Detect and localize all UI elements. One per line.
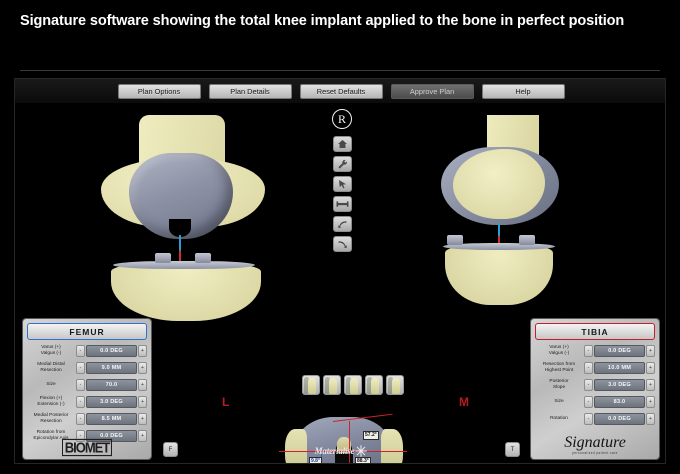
undo-icon[interactable] <box>333 216 352 232</box>
param-increment-button[interactable]: + <box>646 396 655 408</box>
param-label: Flexion (+)Extension (-) <box>27 396 75 407</box>
param-label: Size <box>27 382 75 388</box>
caption-text: Signature software showing the total kne… <box>20 12 650 31</box>
tibia-bone-anterior <box>111 265 261 321</box>
view-preset-1[interactable] <box>302 375 320 395</box>
param-value[interactable]: 8.5 MM <box>86 413 137 425</box>
param-increment-button[interactable]: + <box>646 362 655 374</box>
param-decrement-button[interactable]: - <box>584 396 593 408</box>
param-row: Varus (+)Valgus (-)-0.0 DEG+ <box>535 343 655 359</box>
param-decrement-button[interactable]: - <box>76 413 85 425</box>
param-label: Medial PosteriorResection <box>27 413 75 424</box>
param-decrement-button[interactable]: - <box>584 413 593 425</box>
param-increment-button[interactable]: + <box>138 413 147 425</box>
femur-panel-title: FEMUR <box>27 323 147 340</box>
tibia-parameter-list: Varus (+)Valgus (-)-0.0 DEG+Resection fr… <box>535 343 655 427</box>
param-value[interactable]: 70.0 <box>86 379 137 391</box>
redo-icon[interactable] <box>333 236 352 252</box>
param-row: Resection fromHighest Point-10.0 MM+ <box>535 360 655 376</box>
toolbar-button-plan-options[interactable]: Plan Options <box>118 84 201 99</box>
lateral-knee-view[interactable] <box>415 115 605 305</box>
bone-thumbnail-icon <box>392 378 400 394</box>
param-value[interactable]: 3.0 DEG <box>594 379 645 391</box>
param-increment-button[interactable]: + <box>646 413 655 425</box>
femur-parameter-list: Varus (+)Valgus (-)-0.0 DEG+Medial Dista… <box>27 343 147 444</box>
param-label: PosteriorSlope <box>535 379 583 390</box>
param-row: Size-83.0+ <box>535 394 655 410</box>
caption-divider <box>20 70 660 71</box>
materialise-logo: Materialise <box>15 445 666 457</box>
param-decrement-button[interactable]: - <box>76 379 85 391</box>
param-decrement-button[interactable]: - <box>76 362 85 374</box>
tibia-panel-title: TIBIA <box>535 323 655 340</box>
param-label: Rotation <box>535 416 583 422</box>
starburst-icon <box>355 445 367 457</box>
param-row: Medial PosteriorResection-8.5 MM+ <box>27 411 147 427</box>
toolbar-button-approve-plan[interactable]: Approve Plan <box>391 84 474 99</box>
param-value[interactable]: 83.0 <box>594 396 645 408</box>
toolbar-button-plan-details[interactable]: Plan Details <box>209 84 292 99</box>
view-preset-toolbar <box>302 375 404 395</box>
joint-gap-indicator-anterior <box>179 235 181 263</box>
tibial-tray-anterior <box>113 261 255 269</box>
tibial-peg-lateral-left <box>447 235 463 245</box>
femur-condyle-lateral <box>453 149 545 219</box>
tibia-bone-lateral <box>445 247 553 305</box>
param-row: Medial DistalResection-9.0 MM+ <box>27 360 147 376</box>
measure-icon[interactable] <box>333 196 352 212</box>
param-value[interactable]: 9.0 MM <box>86 362 137 374</box>
materialise-wordmark: Materialise <box>315 446 355 456</box>
param-value[interactable]: 0.0 DEG <box>594 413 645 425</box>
toolbar-button-help[interactable]: Help <box>482 84 565 99</box>
param-value[interactable]: 0.0 DEG <box>86 345 137 357</box>
tibial-peg-lateral-right <box>519 235 535 245</box>
bone-thumbnail-icon <box>308 378 316 394</box>
view-preset-3[interactable] <box>344 375 362 395</box>
lateral-side-marker: L <box>222 395 229 409</box>
caption-bar: Signature software showing the total kne… <box>0 0 680 64</box>
param-row: PosteriorSlope-3.0 DEG+ <box>535 377 655 393</box>
param-label: Resection fromHighest Point <box>535 362 583 373</box>
param-row: Size-70.0+ <box>27 377 147 393</box>
view-preset-5[interactable] <box>386 375 404 395</box>
param-label: Varus (+)Valgus (-) <box>27 345 75 356</box>
tool-rail: R <box>328 109 356 252</box>
param-increment-button[interactable]: + <box>138 345 147 357</box>
3d-viewport[interactable]: R <box>15 103 666 464</box>
param-decrement-button[interactable]: - <box>584 345 593 357</box>
view-preset-2[interactable] <box>323 375 341 395</box>
tibial-peg-right <box>195 253 211 263</box>
home-icon[interactable] <box>333 136 352 152</box>
anterior-knee-view[interactable] <box>77 115 297 305</box>
param-increment-button[interactable]: + <box>646 379 655 391</box>
registered-trademark-icon: R <box>332 109 352 129</box>
pointer-icon[interactable] <box>333 176 352 192</box>
signature-application-window: Plan OptionsPlan DetailsReset DefaultsAp… <box>14 78 666 464</box>
param-decrement-button[interactable]: - <box>76 345 85 357</box>
top-toolbar: Plan OptionsPlan DetailsReset DefaultsAp… <box>15 79 666 103</box>
view-preset-4[interactable] <box>365 375 383 395</box>
param-value[interactable]: 10.0 MM <box>594 362 645 374</box>
bone-thumbnail-icon <box>371 378 379 394</box>
param-label: Varus (+)Valgus (-) <box>535 345 583 356</box>
param-value[interactable]: 3.0 DEG <box>86 396 137 408</box>
param-row: Rotation-0.0 DEG+ <box>535 411 655 427</box>
param-increment-button[interactable]: + <box>138 379 147 391</box>
bottom-bar: F T Materialise <box>15 431 666 464</box>
param-increment-button[interactable]: + <box>138 396 147 408</box>
bone-thumbnail-icon <box>329 378 337 394</box>
bone-thumbnail-icon <box>350 378 358 394</box>
param-row: Varus (+)Valgus (-)-0.0 DEG+ <box>27 343 147 359</box>
param-value[interactable]: 0.0 DEG <box>594 345 645 357</box>
param-decrement-button[interactable]: - <box>76 396 85 408</box>
toolbar-button-reset-defaults[interactable]: Reset Defaults <box>300 84 383 99</box>
param-decrement-button[interactable]: - <box>584 379 593 391</box>
param-decrement-button[interactable]: - <box>584 362 593 374</box>
param-row: Flexion (+)Extension (-)-3.0 DEG+ <box>27 394 147 410</box>
tibial-peg-left <box>155 253 171 263</box>
param-label: Medial DistalResection <box>27 362 75 373</box>
medial-side-marker: M <box>459 395 469 409</box>
param-increment-button[interactable]: + <box>138 362 147 374</box>
wrench-icon[interactable] <box>333 156 352 172</box>
param-label: Size <box>535 399 583 405</box>
param-increment-button[interactable]: + <box>646 345 655 357</box>
